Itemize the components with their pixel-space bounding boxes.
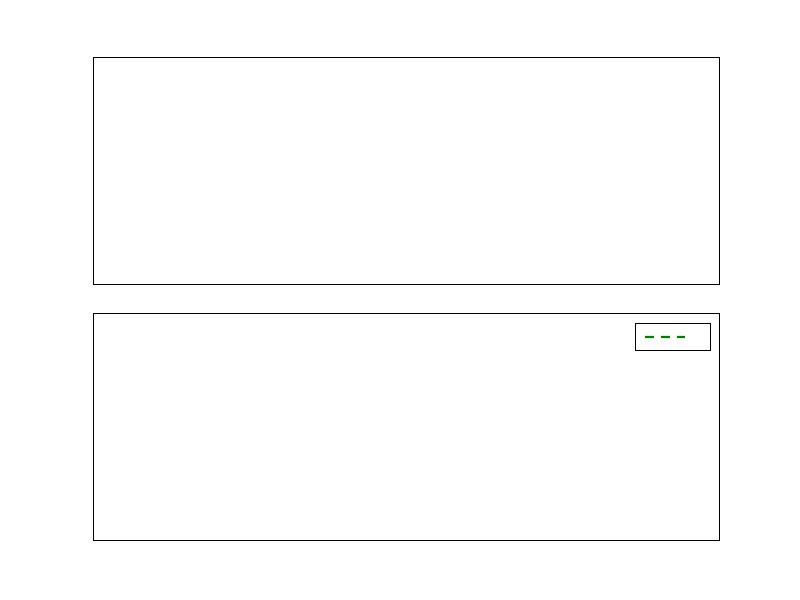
bottom-cumulative-axes [93, 313, 720, 541]
histogram-bars-layer [94, 58, 719, 284]
top-y-tick-labels [41, 57, 83, 285]
cumulative-curve-layer [94, 314, 719, 540]
legend-dashed-line-icon [644, 330, 686, 344]
bottom-x-tick-labels [93, 545, 720, 567]
bottom-y-tick-labels [33, 313, 75, 541]
figure-canvas [0, 0, 800, 600]
top-x-tick-labels [93, 289, 720, 311]
legend [635, 323, 711, 351]
top-histogram-axes [93, 57, 720, 285]
cumulative-curve-svg [94, 314, 719, 540]
